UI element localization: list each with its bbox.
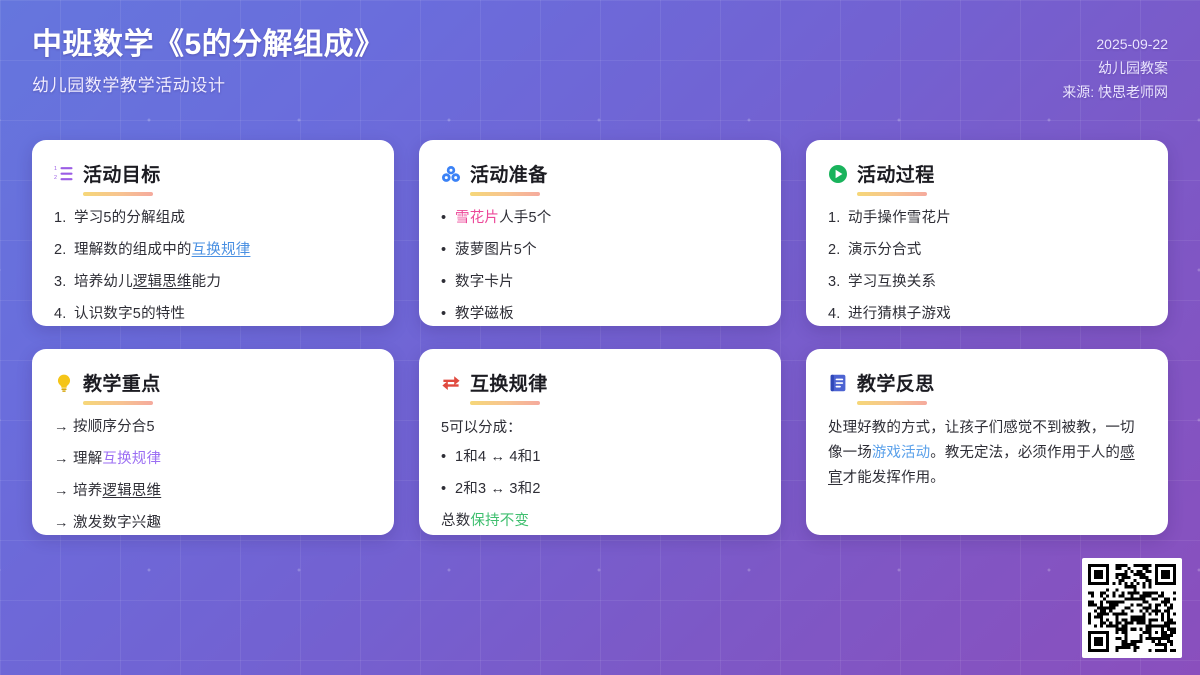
inline-text: 理解 — [73, 451, 102, 467]
card-accent-underline — [83, 401, 153, 405]
list-item: 1.学习5的分解组成 — [54, 207, 372, 229]
page-title: 中班数学《5的分解组成》 — [32, 26, 385, 64]
inline-highlight: 逻辑思维 — [133, 274, 192, 290]
list-item: 1.动手操作雪花片 — [828, 207, 1146, 229]
inline-text: 1和4 ↔ 4和1 — [455, 449, 541, 465]
list-item: •数字卡片 — [441, 271, 759, 293]
list-number: 4. — [54, 303, 74, 325]
inline-text: 培养幼儿 — [74, 274, 133, 290]
card-4: 教学重点 →按顺序分合5→理解互换规律→培养逻辑思维→激发数字兴趣 — [32, 349, 394, 535]
list-item: •雪花片人手5个 — [441, 207, 759, 229]
inline-highlight: 保持不变 — [470, 513, 529, 529]
qr-code[interactable] — [1082, 558, 1182, 658]
inline-text: 培养 — [73, 483, 102, 499]
inline-text: 理解数的组成中的 — [74, 242, 192, 258]
list-item: •1和4 ↔ 4和1 — [441, 446, 759, 468]
list-number: 2. — [54, 239, 74, 261]
list-item: 2.理解数的组成中的互换规律 — [54, 239, 372, 261]
card-title: 教学反思 — [857, 369, 935, 396]
card-header: 互换规律 — [441, 369, 759, 396]
card-title: 活动过程 — [857, 160, 935, 187]
card-accent-underline — [83, 192, 153, 196]
inline-text: 2和3 ↔ 3和2 — [455, 481, 541, 497]
inline-text: 总数 — [441, 513, 470, 529]
list-item: →理解互换规律 — [54, 448, 372, 470]
qr-code-image — [1088, 564, 1176, 652]
bullet-marker: • — [441, 478, 455, 500]
card-3: 活动过程 1.动手操作雪花片2.演示分合式3.学习互换关系4.进行猜棋子游戏 — [806, 140, 1168, 326]
list-item: •2和3 ↔ 3和2 — [441, 478, 759, 500]
svg-text:2: 2 — [54, 174, 57, 180]
inline-text: 才能发挥作用。 — [843, 470, 945, 486]
inline-highlight: 逻辑思维 — [102, 483, 161, 499]
card-intro-text: 5可以分成： — [441, 416, 759, 437]
inline-text: 数字卡片 — [455, 274, 514, 290]
card-body: •雪花片人手5个•菠萝图片5个•数字卡片•教学磁板 — [441, 207, 759, 325]
list-item: →激发数字兴趣 — [54, 512, 372, 534]
inline-text: 激发数字兴趣 — [73, 515, 161, 531]
book-icon — [828, 373, 848, 393]
numbered-list-icon: 1 2 — [54, 164, 74, 184]
inline-text: 动手操作雪花片 — [848, 210, 951, 226]
list-item: 3.培养幼儿逻辑思维能力 — [54, 271, 372, 293]
list-item: •教学磁板 — [441, 303, 759, 325]
card-2: 活动准备 •雪花片人手5个•菠萝图片5个•数字卡片•教学磁板 — [419, 140, 781, 326]
card-1: 1 2 活动目标 1.学习5的分解组成2.理解数的组成中的互换规律3.培养幼儿逻… — [32, 140, 394, 326]
card-6: 教学反思 处理好教的方式，让孩子们感觉不到被教，一切像一场游戏活动。教无定法，必… — [806, 349, 1168, 535]
page-header: 中班数学《5的分解组成》 幼儿园数学教学活动设计 2025-09-22 幼儿园教… — [0, 0, 1200, 130]
play-circle-icon — [828, 164, 848, 184]
svg-text:1: 1 — [54, 166, 57, 172]
card-title: 活动准备 — [470, 160, 548, 187]
page-subtitle: 幼儿园数学教学活动设计 — [32, 71, 385, 96]
list-number: 2. — [828, 239, 848, 261]
inline-highlight: 互换规律 — [102, 451, 161, 467]
list-number: 1. — [828, 207, 848, 229]
card-body: →按顺序分合5→理解互换规律→培养逻辑思维→激发数字兴趣 — [54, 416, 372, 534]
arrow-marker: → — [54, 416, 73, 438]
list-item: →按顺序分合5 — [54, 416, 372, 438]
inline-text: 学习5的分解组成 — [74, 210, 185, 226]
card-header: 活动过程 — [828, 160, 1146, 187]
bullet-marker: • — [441, 239, 455, 261]
inline-text: 教学磁板 — [455, 306, 514, 322]
header-date: 2025-09-22 — [1062, 32, 1168, 56]
card-paragraph: 处理好教的方式，让孩子们感觉不到被教，一切像一场游戏活动。教无定法，必须作用于人… — [828, 416, 1146, 491]
list-number: 1. — [54, 207, 74, 229]
card-body: 处理好教的方式，让孩子们感觉不到被教，一切像一场游戏活动。教无定法，必须作用于人… — [828, 416, 1146, 491]
list-item: 4.进行猜棋子游戏 — [828, 303, 1146, 325]
inline-text: 。教无定法，必须作用于人的 — [930, 445, 1120, 461]
card-header: 活动准备 — [441, 160, 759, 187]
inline-text: 人手5个 — [499, 210, 551, 226]
card-accent-underline — [470, 401, 540, 405]
inline-text: 菠萝图片5个 — [455, 242, 537, 258]
card-accent-underline — [470, 192, 540, 196]
header-category: 幼儿园教案 — [1062, 56, 1168, 80]
arrow-marker: → — [54, 480, 73, 502]
card-title: 互换规律 — [470, 369, 548, 396]
header-meta-block: 2025-09-22 幼儿园教案 来源: 快思老师网 — [1062, 32, 1168, 104]
card-header: 教学重点 — [54, 369, 372, 396]
molecule-cluster-icon — [441, 164, 461, 184]
inline-highlight: 雪花片 — [455, 210, 499, 226]
list-number: 3. — [828, 271, 848, 293]
bullet-marker: • — [441, 303, 455, 325]
card-accent-underline — [857, 192, 927, 196]
lightbulb-icon — [54, 373, 74, 393]
list-number: 3. — [54, 271, 74, 293]
inline-text: 演示分合式 — [848, 242, 922, 258]
card-accent-underline — [857, 401, 927, 405]
list-item: •菠萝图片5个 — [441, 239, 759, 261]
card-body: 5可以分成：•1和4 ↔ 4和1•2和3 ↔ 3和2总数保持不变 — [441, 416, 759, 532]
list-item: 4.认识数字5的特性 — [54, 303, 372, 325]
inline-highlight: 互换规律 — [192, 242, 251, 258]
inline-text: 进行猜棋子游戏 — [848, 306, 951, 322]
list-item: 2.演示分合式 — [828, 239, 1146, 261]
header-source: 来源: 快思老师网 — [1062, 80, 1168, 104]
card-header: 教学反思 — [828, 369, 1146, 396]
inline-text: 能力 — [192, 274, 221, 290]
swap-arrows-icon — [441, 373, 461, 393]
list-number: 4. — [828, 303, 848, 325]
inline-text: 认识数字5的特性 — [74, 306, 185, 322]
card-header: 1 2 活动目标 — [54, 160, 372, 187]
arrow-marker: → — [54, 448, 73, 470]
arrow-marker: → — [54, 512, 73, 534]
header-title-block: 中班数学《5的分解组成》 幼儿园数学教学活动设计 — [32, 26, 385, 96]
card-grid: 1 2 活动目标 1.学习5的分解组成2.理解数的组成中的互换规律3.培养幼儿逻… — [32, 140, 1168, 535]
bullet-marker: • — [441, 446, 455, 468]
card-body: 1.学习5的分解组成2.理解数的组成中的互换规律3.培养幼儿逻辑思维能力4.认识… — [54, 207, 372, 325]
card-5: 互换规律 5可以分成：•1和4 ↔ 4和1•2和3 ↔ 3和2总数保持不变 — [419, 349, 781, 535]
inline-highlight: 游戏活动 — [872, 445, 930, 461]
bullet-marker: • — [441, 207, 455, 229]
card-title: 活动目标 — [83, 160, 161, 187]
card-body: 1.动手操作雪花片2.演示分合式3.学习互换关系4.进行猜棋子游戏 — [828, 207, 1146, 325]
inline-text: 按顺序分合5 — [73, 419, 155, 435]
card-title: 教学重点 — [83, 369, 161, 396]
inline-text: 学习互换关系 — [848, 274, 936, 290]
list-item: →培养逻辑思维 — [54, 480, 372, 502]
card-footer-text: 总数保持不变 — [441, 510, 759, 532]
list-item: 3.学习互换关系 — [828, 271, 1146, 293]
bullet-marker: • — [441, 271, 455, 293]
